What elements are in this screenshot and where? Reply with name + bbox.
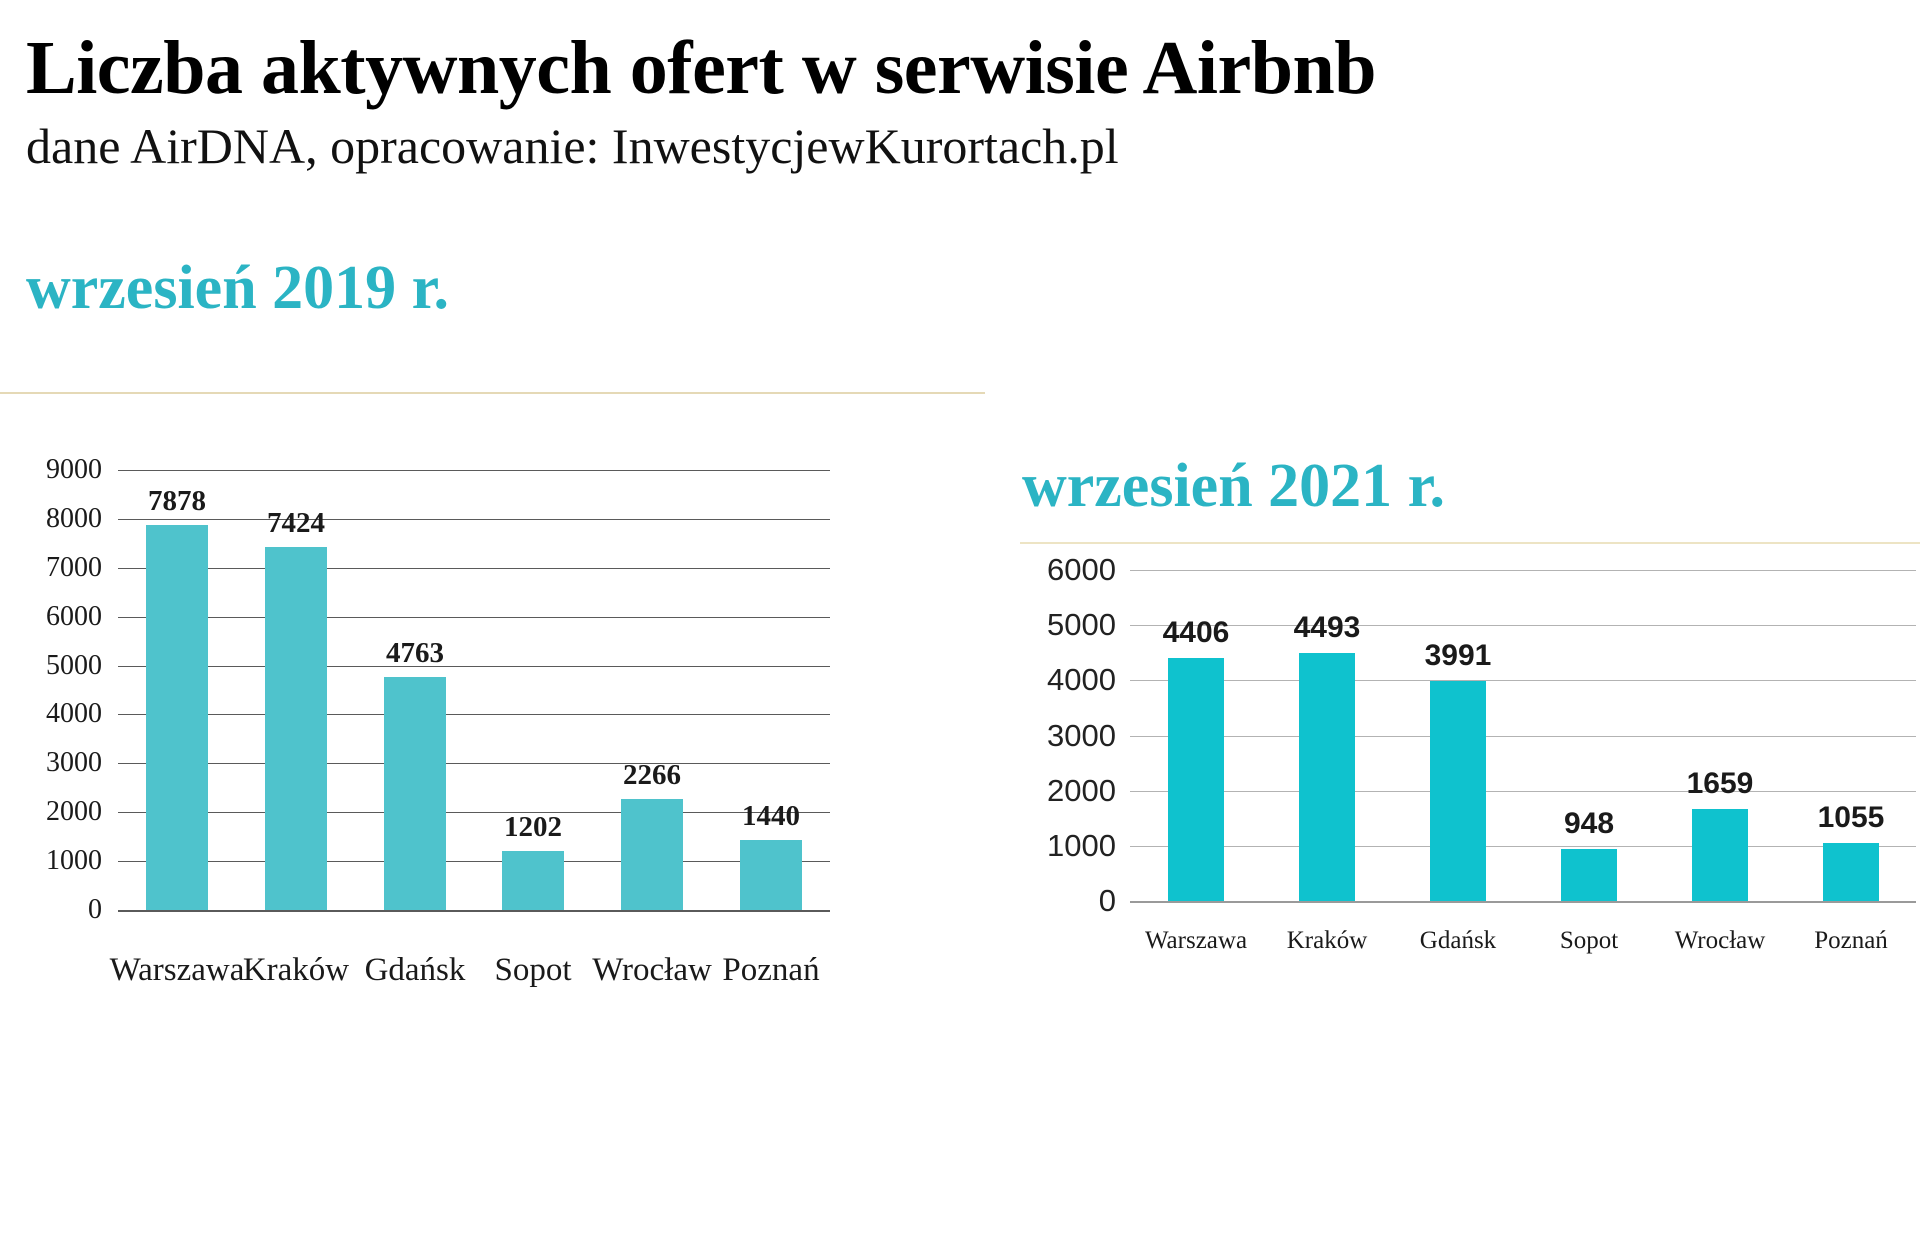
plot-area-2021: 01000200030004000500060004406Warszawa449… (1016, 570, 1920, 1110)
y-axis-tick-label: 0 (10, 894, 102, 926)
gridline (1130, 570, 1916, 571)
bar (621, 799, 683, 910)
x-axis-tick-label: Poznań (1756, 927, 1920, 955)
bar-chart-2019: 0100020003000400050006000700080009000787… (18, 470, 1018, 1120)
y-axis-tick-label: 6000 (1016, 552, 1116, 588)
bar-value-label: 3991 (1368, 639, 1548, 673)
bar (1692, 809, 1748, 901)
bar-value-label: 1440 (681, 800, 861, 833)
bar-value-label: 2266 (562, 759, 742, 792)
gridline (118, 470, 830, 471)
gridline (1130, 680, 1916, 681)
bar (502, 851, 564, 910)
y-axis-tick-label: 3000 (10, 747, 102, 779)
y-axis-tick-label: 7000 (10, 552, 102, 584)
bar-value-label: 7424 (206, 507, 386, 540)
bar (1168, 658, 1224, 901)
gridline (1130, 846, 1916, 847)
bar-value-label: 1202 (443, 811, 623, 844)
gridline (118, 714, 830, 715)
y-axis-tick-label: 6000 (10, 601, 102, 633)
gridline (118, 861, 830, 862)
bar-chart-2021: 01000200030004000500060004406Warszawa449… (1016, 570, 1920, 1110)
y-axis-tick-label: 5000 (10, 650, 102, 682)
y-axis-tick-label: 5000 (1016, 607, 1116, 643)
x-axis-line-2021 (1130, 901, 1916, 903)
y-axis-tick-label: 1000 (10, 845, 102, 877)
y-axis-tick-label: 0 (1016, 883, 1116, 919)
page-title: Liczba aktywnych ofert w serwisie Airbnb (26, 26, 1906, 110)
bar (146, 525, 208, 910)
bar (1823, 843, 1879, 901)
bar (740, 840, 802, 910)
y-axis-tick-label: 9000 (10, 454, 102, 486)
bar-value-label: 948 (1499, 807, 1679, 841)
gridline (1130, 736, 1916, 737)
bar (265, 547, 327, 910)
bar (384, 677, 446, 910)
header: Liczba aktywnych ofert w serwisie Airbnb… (26, 26, 1906, 176)
y-axis-tick-label: 4000 (10, 698, 102, 730)
bar (1299, 653, 1355, 901)
bar-value-label: 1055 (1761, 801, 1920, 835)
bar-value-label: 1659 (1630, 767, 1810, 801)
plot-area-2019: 0100020003000400050006000700080009000787… (18, 470, 1018, 1120)
y-axis-tick-label: 1000 (1016, 828, 1116, 864)
section-rule-2019 (0, 392, 985, 394)
section-rule-2021 (1020, 542, 1920, 544)
y-axis-tick-label: 2000 (1016, 773, 1116, 809)
infographic-page: Liczba aktywnych ofert w serwisie Airbnb… (0, 0, 1920, 1234)
x-axis-tick-label: Poznań (676, 952, 866, 989)
gridline (118, 568, 830, 569)
bar-value-label: 4763 (325, 637, 505, 670)
section-heading-2021: wrzesień 2021 r. (1022, 450, 1445, 522)
y-axis-tick-label: 3000 (1016, 718, 1116, 754)
gridline (118, 617, 830, 618)
x-axis-line-2019 (118, 910, 830, 912)
page-subtitle: dane AirDNA, opracowanie: InwestycjewKur… (26, 116, 1906, 176)
y-axis-tick-label: 2000 (10, 796, 102, 828)
bar (1430, 681, 1486, 901)
section-heading-2019: wrzesień 2019 r. (26, 252, 449, 324)
bar (1561, 849, 1617, 901)
y-axis-tick-label: 4000 (1016, 662, 1116, 698)
